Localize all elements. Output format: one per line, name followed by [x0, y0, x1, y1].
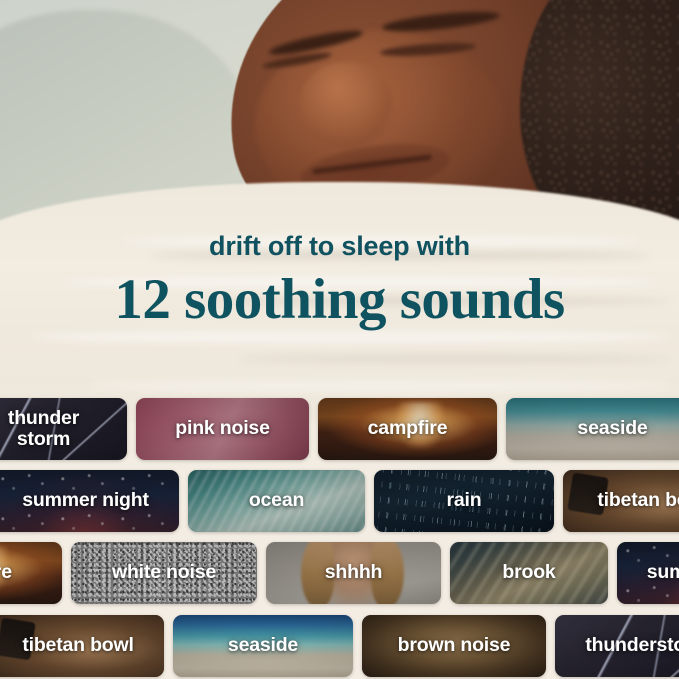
- sound-tile-label: seaside: [571, 418, 653, 439]
- page-title: 12 soothing sounds: [0, 268, 679, 332]
- headline-block: drift off to sleep with 12 soothing soun…: [0, 232, 679, 332]
- sound-tile-label: campfire: [0, 562, 18, 583]
- promo-image-root: drift off to sleep with 12 soothing soun…: [0, 0, 679, 679]
- sound-tile-white-noise[interactable]: white noise: [71, 542, 257, 604]
- sound-tile-label: thunder storm: [2, 408, 85, 450]
- sound-tile-label: campfire: [362, 418, 454, 439]
- sound-tile-label: tibetan bowl: [16, 635, 139, 656]
- sound-tile-summer-night[interactable]: summer night: [0, 470, 179, 532]
- sound-tile-label: tibetan bowl: [591, 490, 679, 511]
- sound-tile-campfire[interactable]: campfire: [0, 542, 62, 604]
- sound-tile-brook[interactable]: brook: [450, 542, 608, 604]
- sound-tile-tibetan-bowl[interactable]: tibetan bowl: [0, 615, 164, 677]
- sound-tile-label: brook: [496, 562, 561, 583]
- sound-tile-campfire[interactable]: campfire: [318, 398, 497, 460]
- sound-tile-seaside[interactable]: seaside: [173, 615, 353, 677]
- sound-tile-label: pink noise: [169, 418, 275, 439]
- sound-tile-seaside[interactable]: seaside: [506, 398, 679, 460]
- sound-tile-label: thunderstorm: [579, 635, 679, 656]
- sound-tile-tibetan-bowl[interactable]: tibetan bowl: [563, 470, 679, 532]
- sound-tile-label: rain: [441, 490, 488, 511]
- sound-tile-label: white noise: [106, 562, 222, 583]
- sound-tile-ocean[interactable]: ocean: [188, 470, 365, 532]
- sound-tile-thunderstorm[interactable]: thunder storm: [0, 398, 127, 460]
- sound-tile-shhhh[interactable]: shhhh: [266, 542, 441, 604]
- sound-tile-grid: thunder stormpink noisecampfireseasidesu…: [0, 392, 679, 679]
- sound-tile-label: brown noise: [392, 635, 517, 656]
- sound-tile-label: summer night: [16, 490, 155, 511]
- sound-tile-rain[interactable]: rain: [374, 470, 554, 532]
- sound-tile-brown-noise[interactable]: brown noise: [362, 615, 546, 677]
- sound-tile-row: tibetan bowlseasidebrown noisethundersto…: [0, 615, 679, 677]
- sound-tile-thunderstorm[interactable]: thunderstorm: [555, 615, 679, 677]
- sound-tile-row: thunder stormpink noisecampfireseaside: [0, 398, 679, 460]
- sound-tile-label: shhhh: [319, 562, 389, 583]
- sound-tile-label: ocean: [243, 490, 310, 511]
- headline-kicker: drift off to sleep with: [0, 232, 679, 260]
- sound-tile-label: seaside: [222, 635, 304, 656]
- sound-tile-row: summer nightoceanraintibetan bowl: [0, 470, 679, 532]
- sound-tile-label: summer night: [641, 562, 679, 583]
- sound-tile-row: campfirewhite noiseshhhhbrooksummer nigh…: [0, 542, 679, 604]
- sound-tile-pink-noise[interactable]: pink noise: [136, 398, 309, 460]
- sound-tile-summer-night[interactable]: summer night: [617, 542, 679, 604]
- nose-shape: [300, 62, 392, 148]
